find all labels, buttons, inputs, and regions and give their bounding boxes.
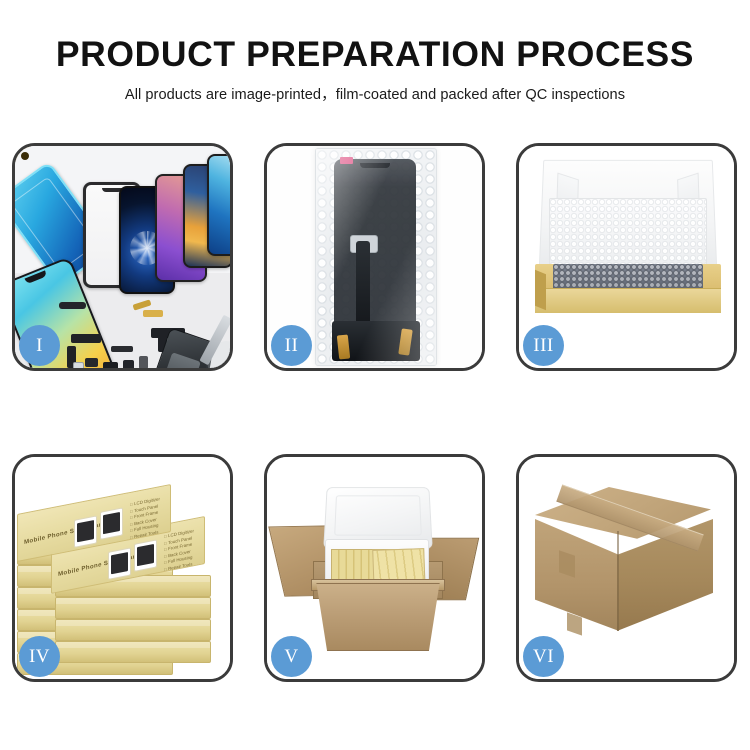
product-preparation-infographic: PRODUCT PREPARATION PROCESS All products… bbox=[0, 0, 750, 750]
white-foam-sheet bbox=[549, 198, 707, 272]
step-badge-6: VI bbox=[523, 636, 564, 677]
carton-front-wall bbox=[311, 583, 445, 651]
step-badge-2: II bbox=[271, 325, 312, 366]
phone-screen-cyan bbox=[207, 154, 230, 256]
flex-ribbon-cable bbox=[356, 241, 370, 327]
page-subtitle: All products are image-printed，film-coat… bbox=[0, 73, 750, 104]
process-step-panel-6[interactable]: VI bbox=[516, 454, 737, 682]
gold-connector-part-b bbox=[143, 310, 163, 317]
process-step-panel-4[interactable]: Mobile Phone Spare Parts LCD Digitizer T… bbox=[12, 454, 233, 682]
stacked-box-8 bbox=[55, 619, 211, 641]
step-badge-5: V bbox=[271, 636, 312, 677]
kraft-box-left-end bbox=[535, 270, 546, 310]
small-part-b bbox=[103, 362, 118, 368]
process-step-panel-3[interactable]: III bbox=[516, 143, 737, 371]
battery-part bbox=[73, 362, 84, 368]
stacked-box-9 bbox=[55, 597, 211, 619]
page-title: PRODUCT PREPARATION PROCESS bbox=[0, 0, 750, 73]
step-badge-4: IV bbox=[19, 636, 60, 677]
box-checklist-back: LCD Digitizer Touch Panel Front Frame Ba… bbox=[130, 496, 160, 541]
small-part-bar bbox=[111, 346, 133, 352]
speaker-part bbox=[59, 302, 86, 309]
carton-corner-seam bbox=[617, 531, 619, 631]
small-part-c bbox=[123, 360, 134, 368]
box-thumbnail-back-b bbox=[100, 507, 123, 539]
process-step-panel-5[interactable]: V bbox=[264, 454, 485, 682]
stacked-box-7 bbox=[55, 641, 211, 663]
process-step-panel-1[interactable]: I bbox=[12, 143, 233, 371]
box-thumbnail-front-b bbox=[134, 539, 157, 571]
bubble-wrap-bag bbox=[315, 148, 437, 366]
box-checklist-front: LCD Digitizer Touch Panel Front Frame Ba… bbox=[164, 528, 194, 573]
step-badge-3: III bbox=[523, 325, 564, 366]
process-step-panel-2[interactable]: II bbox=[264, 143, 485, 371]
pink-qc-sticker bbox=[340, 157, 353, 164]
step-badge-1: I bbox=[19, 325, 60, 366]
box-thumbnail-front-a bbox=[108, 547, 131, 579]
kraft-box-front-panel bbox=[535, 288, 721, 313]
small-part-a bbox=[85, 358, 98, 367]
box-thumbnail-back-a bbox=[74, 515, 97, 547]
header: PRODUCT PREPARATION PROCESS All products… bbox=[0, 0, 750, 104]
gold-contact-left bbox=[337, 334, 350, 359]
flex-cable-part-a bbox=[71, 334, 101, 343]
small-part-d bbox=[139, 356, 148, 368]
process-step-grid: I II bbox=[12, 143, 738, 683]
